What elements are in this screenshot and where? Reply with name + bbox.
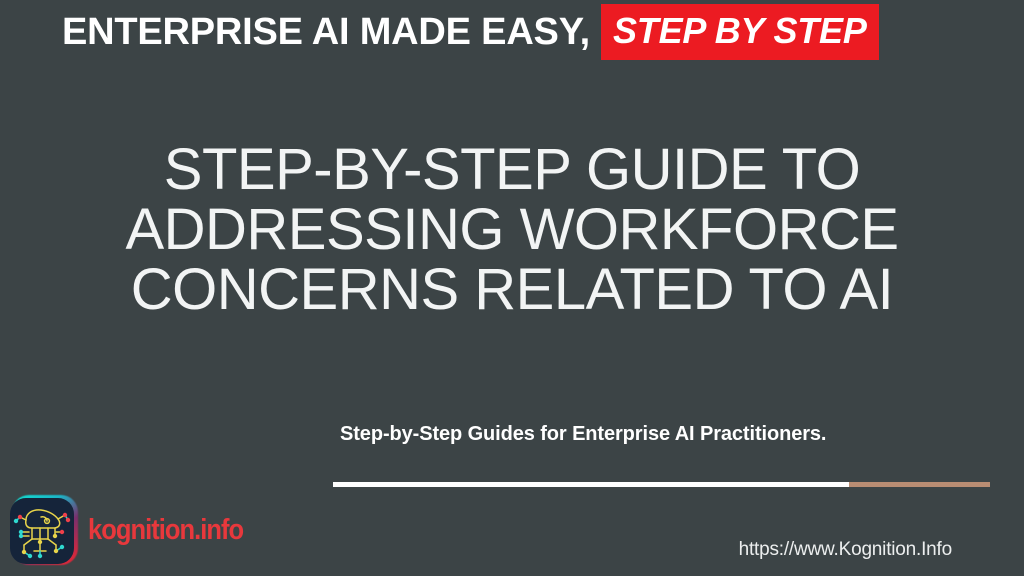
slide-subtitle: Step-by-Step Guides for Enterprise AI Pr…	[340, 423, 990, 445]
presentation-slide: ENTERPRISE AI MADE EASY, STEP BY STEP ST…	[0, 0, 1024, 576]
page-title-line-3: CONCERNS RELATED TO AI	[0, 260, 1024, 320]
divider-segment-light	[333, 482, 849, 487]
page-title-line-2: ADDRESSING WORKFORCE	[0, 200, 1024, 260]
divider-segment-tan	[849, 482, 990, 487]
divider	[333, 482, 990, 487]
site-url[interactable]: https://www.Kognition.Info	[0, 539, 1024, 561]
page-title-line-1: STEP-BY-STEP GUIDE TO	[0, 140, 1024, 200]
header-plain-text: ENTERPRISE AI MADE EASY,	[62, 13, 590, 51]
page-title: STEP-BY-STEP GUIDE TO ADDRESSING WORKFOR…	[0, 140, 1024, 320]
header-highlight-badge: STEP BY STEP	[601, 4, 879, 60]
slide-header: ENTERPRISE AI MADE EASY, STEP BY STEP	[0, 6, 1024, 58]
